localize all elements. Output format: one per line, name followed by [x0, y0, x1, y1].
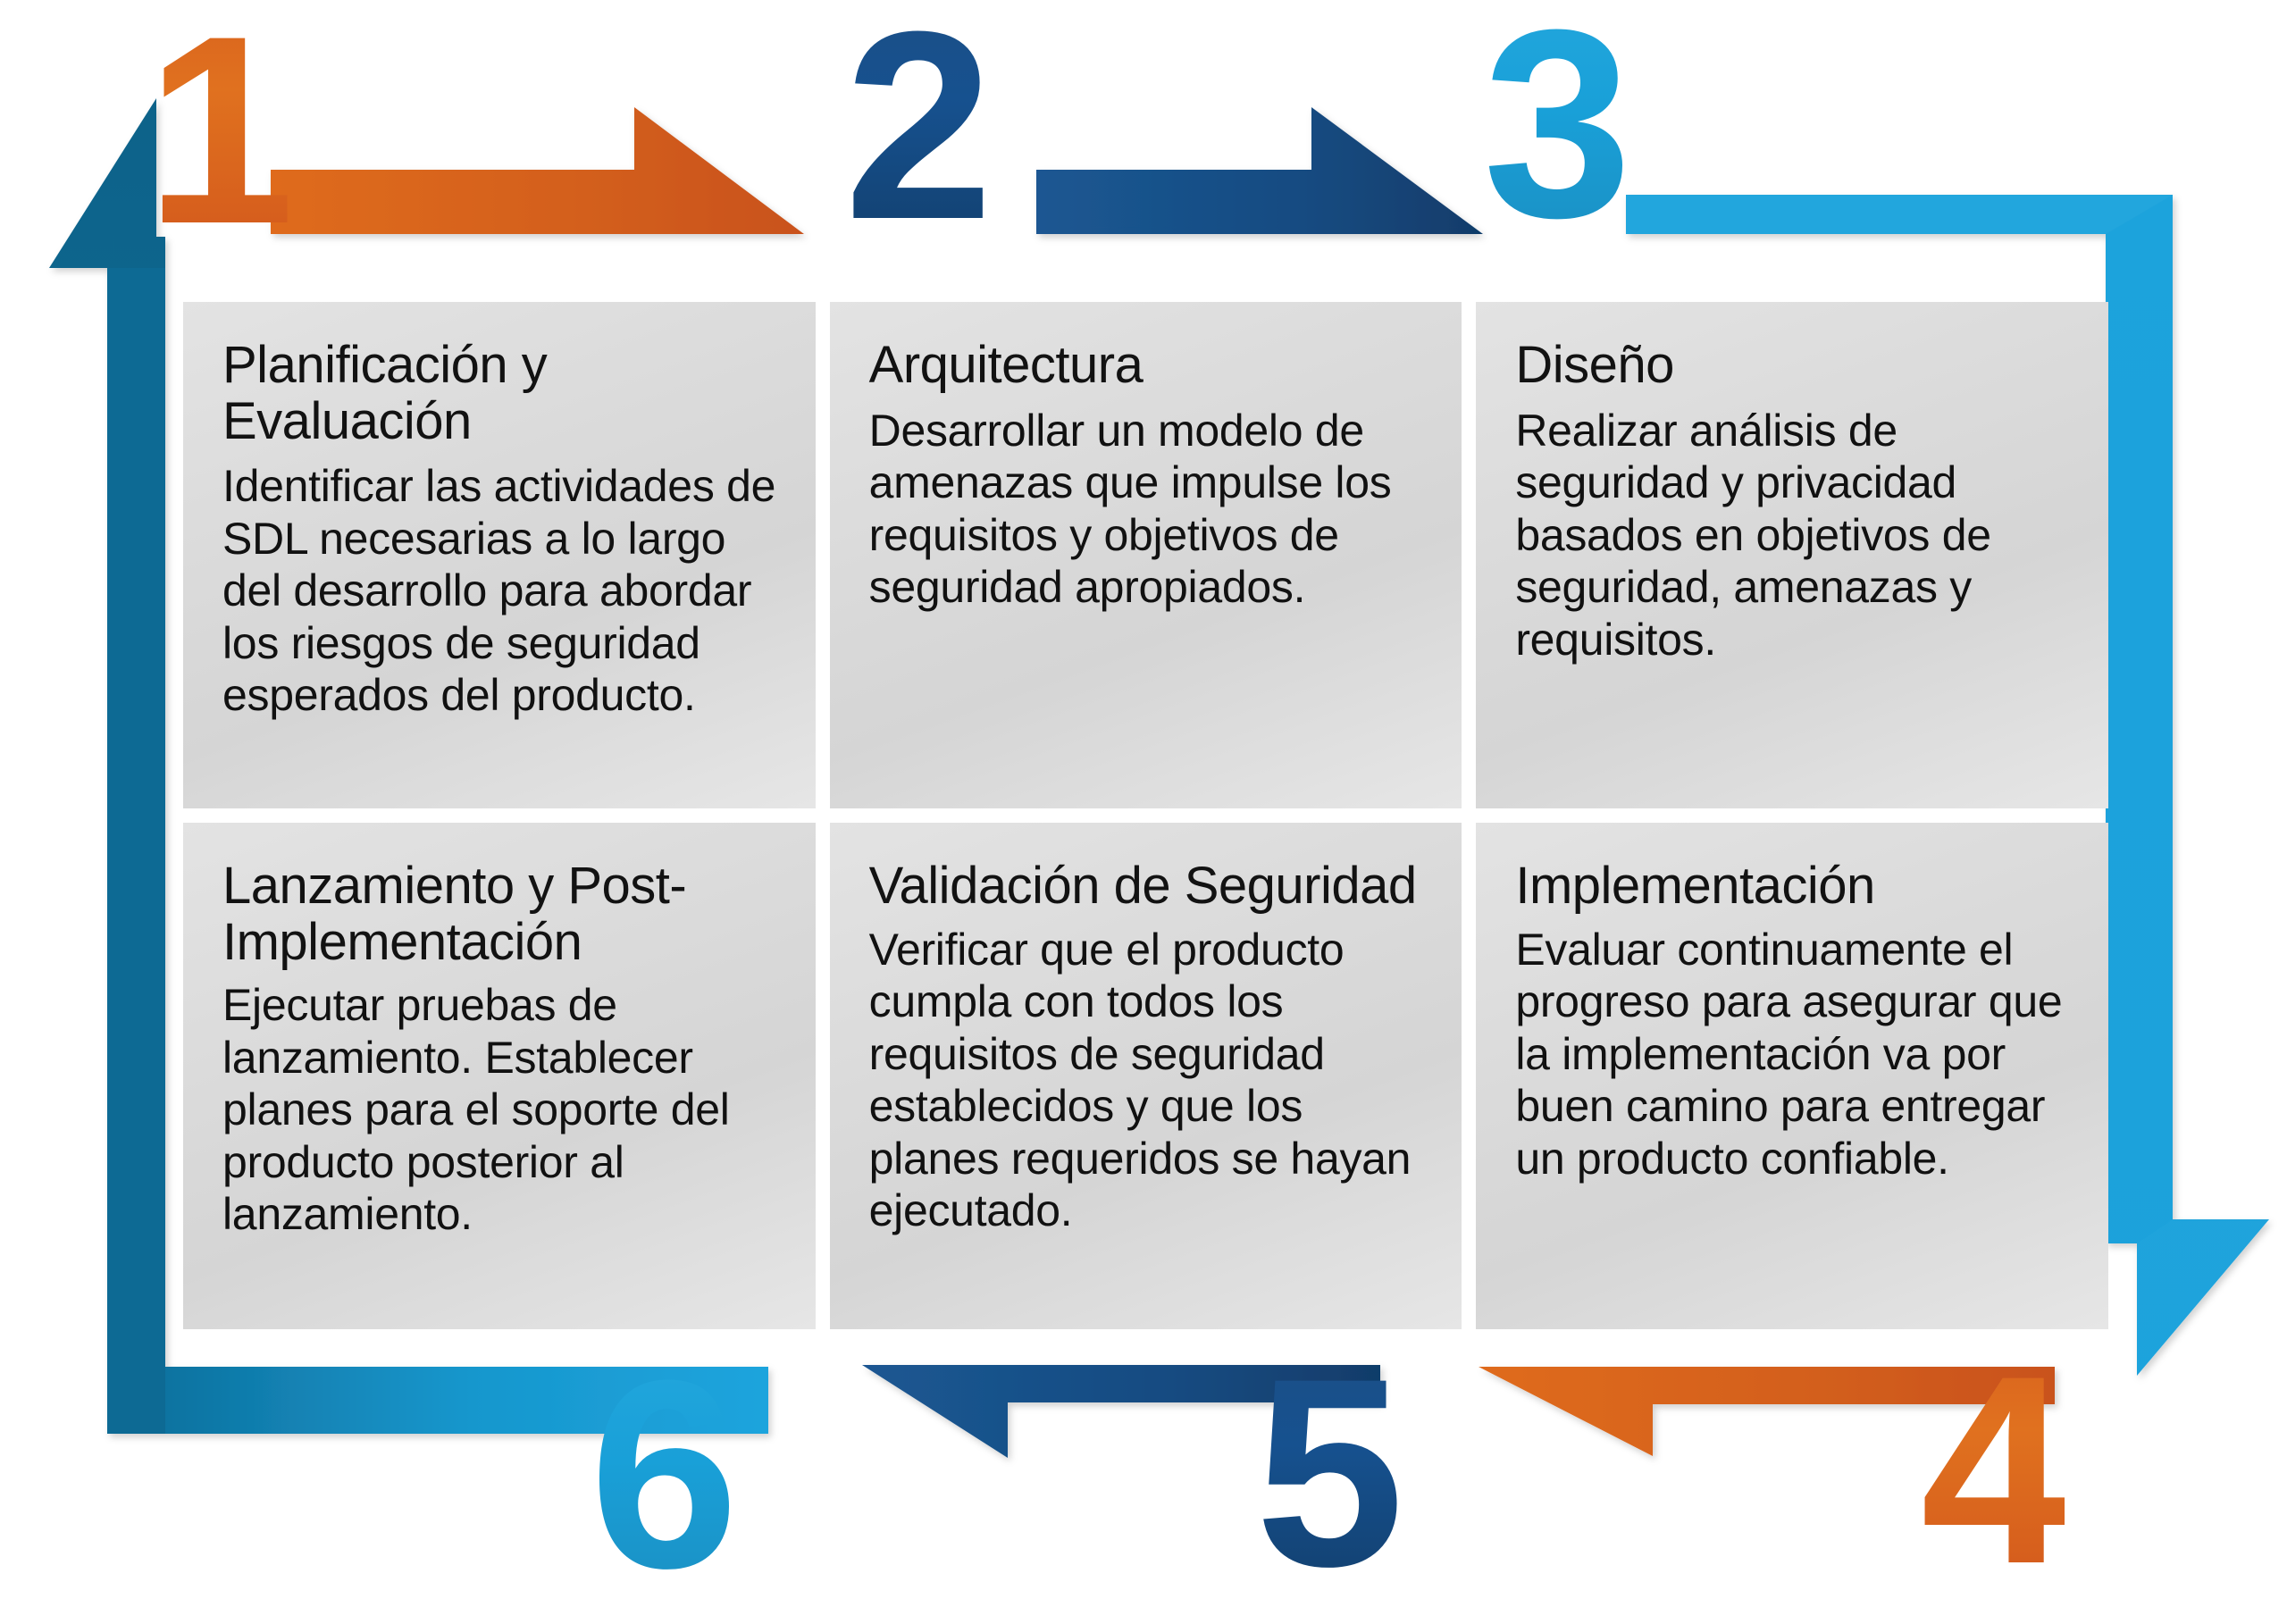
step-number-3: 3: [1483, 0, 1627, 257]
arrow-2-to-3: [1036, 107, 1483, 234]
step-card-4-body: Evaluar continuamente el progreso para a…: [1515, 924, 2069, 1185]
step-card-5: Validación de Seguridad Verificar que el…: [830, 823, 1462, 1329]
step-number-1: 1: [146, 0, 289, 264]
step-card-5-title: Validación de Seguridad: [869, 858, 1423, 915]
step-number-5: 5: [1255, 1338, 1399, 1606]
step-card-6-title: Lanzamiento y Post-Implementación: [222, 858, 776, 970]
step-number-6: 6: [590, 1340, 733, 1608]
step-card-2-body: Desarrollar un modelo de amenazas que im…: [869, 405, 1423, 614]
step-number-2: 2: [844, 0, 988, 259]
step-card-1: Planificación y Evaluación Identificar l…: [183, 302, 816, 808]
step-card-3-body: Realizar análisis de seguridad y privaci…: [1515, 405, 2069, 666]
step-card-1-title: Planificación y Evaluación: [222, 338, 776, 449]
step-card-2-title: Arquitectura: [869, 338, 1423, 394]
step-card-4: Implementación Evaluar continuamente el …: [1476, 823, 2108, 1329]
step-card-5-body: Verificar que el producto cumpla con tod…: [869, 924, 1423, 1237]
step-card-6-body: Ejecutar pruebas de lanzamiento. Estable…: [222, 979, 776, 1241]
step-card-6: Lanzamiento y Post-Implementación Ejecut…: [183, 823, 816, 1329]
arrow-1-to-2: [271, 107, 804, 234]
diagram-canvas: 1 2 3 6 5 4 Planificación y Evaluación I…: [0, 0, 2287, 1620]
step-card-2: Arquitectura Desarrollar un modelo de am…: [830, 302, 1462, 808]
step-card-3: Diseño Realizar análisis de seguridad y …: [1476, 302, 2108, 808]
step-number-4: 4: [1921, 1335, 2065, 1603]
step-card-1-body: Identificar las actividades de SDL neces…: [222, 460, 776, 722]
step-card-grid: Planificación y Evaluación Identificar l…: [183, 302, 2108, 1329]
step-card-4-title: Implementación: [1515, 858, 2069, 915]
step-card-3-title: Diseño: [1515, 338, 2069, 394]
